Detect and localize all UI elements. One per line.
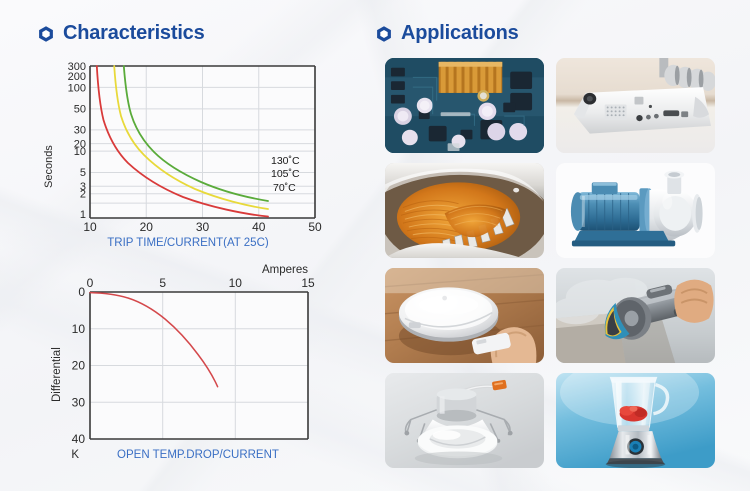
svg-text:10: 10 bbox=[72, 322, 86, 336]
chart2-x-ticks: 0 5 10 15 bbox=[87, 276, 315, 290]
svg-text:50: 50 bbox=[308, 220, 322, 234]
chart2-y-axis-title: Differential bbox=[51, 347, 63, 402]
characteristics-title: Characteristics bbox=[63, 22, 205, 45]
svg-text:30: 30 bbox=[72, 396, 86, 410]
chart1-y-ticks: 300 200 100 50 30 20 10 5 3 2 1 bbox=[68, 61, 86, 221]
chart1-series-labels: 130˚C 105˚C 70˚C bbox=[271, 155, 300, 194]
svg-text:40: 40 bbox=[72, 432, 86, 446]
svg-text:30: 30 bbox=[74, 125, 86, 137]
robot-vacuum-body bbox=[399, 287, 498, 341]
chart2-x-axis-title: Amperes bbox=[262, 264, 308, 276]
applications-grid bbox=[385, 58, 715, 468]
svg-text:50: 50 bbox=[74, 104, 86, 116]
app-tile-motor-stator-winding[interactable] bbox=[385, 163, 544, 258]
svg-text:15: 15 bbox=[301, 276, 315, 290]
svg-text:20: 20 bbox=[140, 220, 154, 234]
page-root: Characteristics bbox=[0, 0, 750, 491]
svg-text:200: 200 bbox=[68, 71, 86, 83]
vent-grille bbox=[605, 105, 627, 121]
app-tile-centrifugal-pump[interactable] bbox=[556, 163, 715, 258]
svg-text:105˚C: 105˚C bbox=[271, 168, 300, 180]
svg-text:70˚C: 70˚C bbox=[273, 182, 296, 194]
app-tile-pcb-circuit-board[interactable] bbox=[385, 58, 544, 153]
svg-text:10: 10 bbox=[74, 146, 86, 158]
svg-text:30: 30 bbox=[196, 220, 210, 234]
light-housing bbox=[437, 389, 477, 422]
app-tile-blender[interactable] bbox=[556, 373, 715, 468]
svg-text:20: 20 bbox=[72, 359, 86, 373]
svg-text:2: 2 bbox=[80, 189, 86, 201]
hand bbox=[674, 280, 713, 323]
svg-text:130˚C: 130˚C bbox=[271, 155, 300, 167]
app-tile-angle-grinder[interactable] bbox=[556, 268, 715, 363]
chart1-x-ticks: 10 20 30 40 50 bbox=[83, 220, 322, 234]
jar-contents bbox=[620, 406, 648, 422]
svg-text:10: 10 bbox=[83, 220, 97, 234]
app-tile-robot-vacuum[interactable] bbox=[385, 268, 544, 363]
chart1-y-axis-title: Seconds bbox=[43, 145, 55, 188]
chart1-x-axis-title: TRIP TIME/CURRENT(AT 25C) bbox=[107, 237, 269, 248]
svg-text:5: 5 bbox=[80, 167, 86, 179]
svg-text:10: 10 bbox=[229, 276, 243, 290]
svg-text:5: 5 bbox=[159, 276, 166, 290]
applications-title: Applications bbox=[401, 22, 519, 45]
applications-section-header: Applications bbox=[375, 22, 519, 45]
app-tile-projector[interactable] bbox=[556, 58, 715, 153]
trip-time-current-chart: 300 200 100 50 30 20 10 5 3 2 1 10 20 30… bbox=[38, 58, 328, 248]
chart2-x-axis-title: OPEN TEMP.DROP/CURRENT bbox=[117, 449, 279, 461]
heatsink bbox=[439, 62, 503, 93]
hexagon-icon bbox=[37, 25, 55, 43]
hexagon-icon bbox=[375, 25, 393, 43]
svg-text:40: 40 bbox=[252, 220, 266, 234]
chart2-y-unit: K bbox=[71, 449, 79, 461]
svg-text:0: 0 bbox=[87, 276, 94, 290]
characteristics-section-header: Characteristics bbox=[37, 22, 205, 45]
app-tile-recessed-light-fixture[interactable] bbox=[385, 373, 544, 468]
svg-text:0: 0 bbox=[78, 285, 85, 299]
svg-text:100: 100 bbox=[68, 83, 86, 95]
chart2-y-ticks: 0 10 20 30 40 bbox=[72, 285, 86, 446]
open-temp-drop-current-chart: 0 5 10 15 Amperes 0 10 20 30 40 K Differ… bbox=[38, 262, 328, 462]
